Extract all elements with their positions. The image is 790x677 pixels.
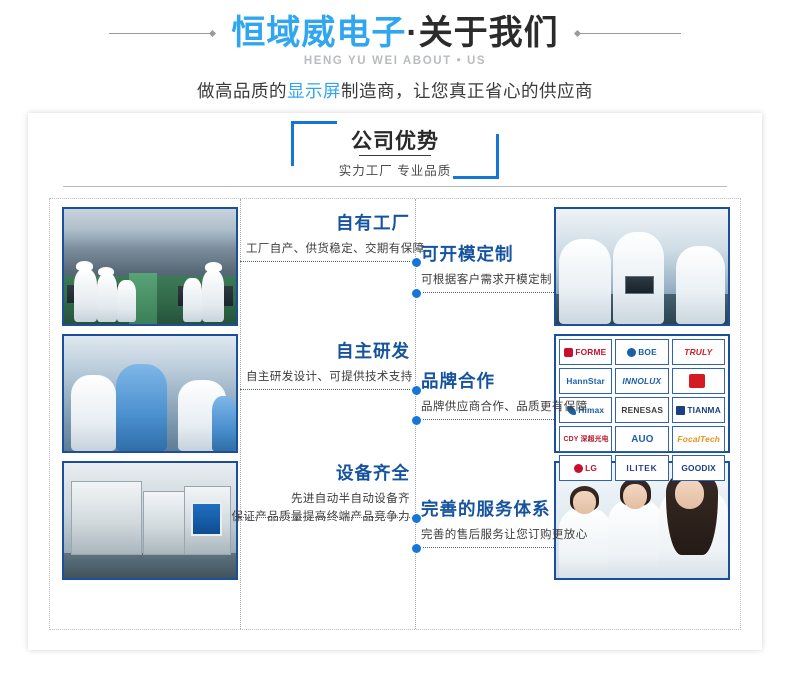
connector-line [415, 292, 554, 293]
brand-label: ILITEK [626, 463, 657, 473]
section-divider [63, 186, 727, 187]
feature-title: 自主研发 [246, 341, 410, 363]
photo-rnd-cleanroom-team [62, 334, 238, 453]
brand-label: FORME [576, 347, 607, 357]
brand-label: BOE [638, 347, 657, 357]
brand-label: LG [585, 463, 597, 473]
feature-desc: 完善的售后服务让您订购更放心 [421, 527, 597, 544]
feature-title: 自有工厂 [246, 213, 410, 235]
feature-title: 完善的服务体系 [421, 499, 597, 521]
slogan-suffix: 制造商，让您真正省心的供应商 [341, 81, 593, 101]
brand-cell[interactable]: TIANMA [672, 397, 725, 423]
connector-line [415, 419, 554, 420]
photo-hat [98, 267, 113, 276]
section-subtitle: 实力工厂 专业品质 [28, 160, 762, 179]
feature-desc-line2: 保证产品质量提高终端产品竞争力 [226, 509, 410, 526]
photo-person [608, 498, 663, 579]
photo-worker [74, 269, 96, 322]
slogan-prefix: 做高品质的 [197, 81, 287, 101]
feature-desc: 工厂自产、供货稳定、交期有保障 [246, 241, 410, 258]
page-title-brand: 恒域威电子 [231, 14, 406, 52]
feature-full-equipment: 设备齐全 先进自动半自动设备齐 保证产品质量提高终端产品竞争力 [226, 463, 410, 525]
section-title: 公司优势 [28, 125, 762, 155]
feature-title: 可开模定制 [421, 244, 591, 266]
tianma-mark-icon [676, 406, 685, 415]
brand-cell[interactable]: TRULY [672, 339, 725, 365]
photo-white-suit [71, 375, 116, 451]
connector-dot [411, 288, 422, 299]
photo-worker [183, 278, 202, 322]
feature-desc: 品牌供应商合作、品质更有保障 [421, 399, 591, 416]
feature-desc: 可根据客户需求开模定制 [421, 272, 591, 289]
boe-mark-icon [627, 348, 636, 357]
photo-blue-suit [116, 364, 168, 451]
connector-line [415, 547, 554, 548]
photo-machine [143, 491, 186, 555]
brand-cell[interactable]: BOE [615, 339, 668, 365]
page-header: 恒域威电子·关于我们 HENG YU WEI ABOUT • US 做高品质的显… [0, 0, 790, 103]
feature-brand-cooperation: 品牌合作 品牌供应商合作、品质更有保障 [421, 371, 591, 416]
photo-blue-suit [212, 396, 236, 451]
photo-hat [76, 261, 93, 271]
feature-title: 设备齐全 [226, 463, 410, 485]
brand-label: RENESAS [621, 405, 663, 415]
photo-machine [71, 481, 142, 554]
brand-cell[interactable]: FORME [559, 339, 612, 365]
page-title: 恒域威电子·关于我们 [231, 14, 558, 53]
brand-label: TRULY [684, 347, 712, 357]
feature-own-factory: 自有工厂 工厂自产、供货稳定、交期有保障 [246, 213, 410, 258]
connector-line [240, 261, 416, 262]
lg-mark-icon [574, 464, 583, 473]
section-title-underline [359, 155, 431, 156]
photo-control-screen [191, 502, 223, 536]
photo-head [675, 479, 704, 509]
brand-cell[interactable]: RENESAS [615, 397, 668, 423]
title-row: 恒域威电子·关于我们 [0, 14, 790, 53]
cpt-mark-icon [689, 374, 705, 388]
photo-worker [202, 270, 224, 322]
photo-worker [117, 280, 136, 321]
brand-label: CDY 深超光电 [563, 434, 608, 444]
feature-title: 品牌合作 [421, 371, 591, 393]
connector-line [240, 389, 416, 390]
brand-label: GOODIX [681, 463, 716, 473]
right-decoration-line [577, 33, 681, 34]
section-header: 公司优势 实力工厂 专业品质 [28, 113, 762, 185]
connector-dot [411, 415, 422, 426]
brand-cell[interactable]: CDY 深超光电 [559, 426, 612, 452]
feature-desc: 自主研发设计、可提供技术支持 [246, 369, 410, 386]
brand-cell[interactable]: LG [559, 455, 612, 481]
page-subtitle-english: HENG YU WEI ABOUT • US [0, 55, 790, 67]
photo-white-suit [676, 246, 724, 324]
vertical-guide-left [240, 199, 241, 629]
brand-label: TIANMA [687, 405, 721, 415]
brand-cell[interactable]: AUO [615, 426, 668, 452]
page-title-topic: 关于我们 [419, 14, 559, 52]
feature-mold-customization: 可开模定制 可根据客户需求开模定制 [421, 244, 591, 289]
left-decoration-line [109, 33, 213, 34]
connector-dot [411, 543, 422, 554]
photo-head [623, 484, 647, 509]
brand-cell[interactable]: FocalTech [672, 426, 725, 452]
advantages-card: 公司优势 实力工厂 专业品质 [28, 113, 762, 650]
page-title-separator: · [406, 14, 418, 52]
photo-base [64, 553, 236, 578]
brand-label: INNOLUX [623, 376, 662, 386]
advantages-panel: FORME BOE TRULY HannStar INNOLUX Himax R… [49, 198, 741, 630]
page-slogan: 做高品质的显示屏制造商，让您真正省心的供应商 [0, 78, 790, 103]
brand-cell[interactable]: ILITEK [615, 455, 668, 481]
photo-hat [205, 262, 222, 272]
photo-device [625, 276, 655, 294]
slogan-highlight: 显示屏 [287, 81, 341, 101]
feature-service-system: 完善的服务体系 完善的售后服务让您订购更放心 [421, 499, 597, 544]
brand-cell[interactable]: GOODIX [672, 455, 725, 481]
photo-automated-equipment [62, 461, 238, 580]
brand-label: AUO [631, 434, 653, 445]
brand-cell[interactable] [672, 368, 725, 394]
forme-mark-icon [564, 348, 573, 357]
brand-cell[interactable]: INNOLUX [615, 368, 668, 394]
photo-factory-production-line [62, 207, 238, 326]
feature-desc-line1: 先进自动半自动设备齐 [226, 491, 410, 508]
feature-rnd: 自主研发 自主研发设计、可提供技术支持 [246, 341, 410, 386]
brand-label: FocalTech [677, 434, 720, 444]
photo-worker [97, 273, 118, 321]
